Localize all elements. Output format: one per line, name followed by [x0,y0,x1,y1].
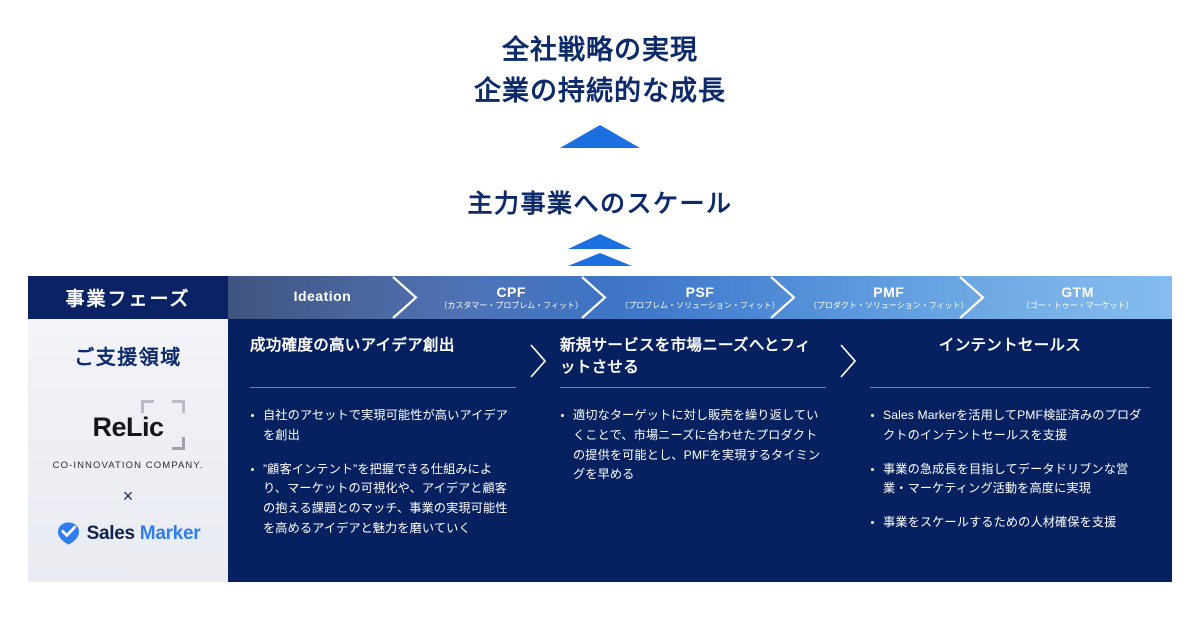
sales-marker-word-marker: Marker [140,523,201,544]
top-headline-area: 全社戦略の実現 企業の持続的な成長 主力事業へのスケール [0,0,1200,266]
column-divider [250,387,516,388]
map-pin-check-icon [56,521,81,546]
column-divider [560,387,826,388]
page-title: 全社戦略の実現 企業の持続的な成長 [0,30,1200,111]
double-chevron-up-icon [0,234,1200,266]
list-item: ”顧客インテント”を把握できる仕組みにより、マーケットの可視化や、アイデアと顧客… [250,460,516,539]
content-column-intent-sales: インテントセールス Sales Markerを活用してPMF検証済みのプロダクト… [848,335,1172,582]
phase-sub: （ゴー・トゥー・マーケット） [1022,302,1134,310]
list-item: 自社のアセットで実現可能性が高いアイデアを創出 [250,406,516,446]
phase-header-label: 事業フェーズ [28,276,228,319]
content-area: 成功確度の高いアイデア創出 自社のアセットで実現可能性が高いアイデアを創出 ”顧… [228,319,1172,582]
phase-sub: （プロダクト・ソリューション・フィット） [809,302,969,310]
relic-tagline: CO-INNOVATION COMPANY. [53,460,204,471]
chevron-up-icon-bottom [568,253,632,266]
headline-line-1: 全社戦略の実現 [0,30,1200,71]
phase-track: Ideation CPF （カスタマー・プロブレム・フィット） PSF （プロブ… [228,276,1172,319]
sales-marker-wordmark: Sales Marker [87,523,201,545]
headline-line-2: 企業の持続的な成長 [0,71,1200,112]
list-item: 適切なターゲットに対し販売を繰り返していくことで、市場ニーズに合わせたプロダクト… [560,406,826,485]
list-item: 事業の急成長を目指してデータドリブンな営業・マーケティング活動を高度に実現 [870,460,1150,500]
list-item: 事業をスケールするための人材確保を支援 [870,513,1150,533]
chevron-right-icon-2 [837,343,859,379]
relic-wordmark: ReLic [92,412,163,443]
phase-name: PSF [686,285,715,300]
phase-item-cpf[interactable]: CPF （カスタマー・プロブレム・フィット） [417,276,606,319]
phase-item-gtm[interactable]: GTM （ゴー・トゥー・マーケット） [983,276,1172,319]
relic-logo: ReLic [53,396,203,458]
sales-marker-word-sales: Sales [87,523,140,544]
support-area-sidebar: ご支援領域 ReLic CO-INNOVATION COMPANY. × Sal… [28,319,228,582]
subheading: 主力事業へのスケール [0,184,1200,220]
content-column-psf: 新規サービスを市場ニーズへとフィットさせる 適切なターゲットに対し販売を繰り返し… [538,335,848,582]
column-heading: インテントセールス [870,335,1150,381]
corner-bracket-icon-top-right [172,400,185,413]
column-divider [870,387,1150,388]
column-bullet-list: Sales Markerを活用してPMF検証済みのプロダクトのインテントセールス… [870,406,1150,533]
phase-name: Ideation [294,289,352,304]
sales-marker-logo: Sales Marker [56,521,201,546]
chevron-right-icon-1 [527,343,549,379]
phase-header-row: 事業フェーズ Ideation CPF （カスタマー・プロブレム・フィット） P… [28,276,1172,319]
phase-name: CPF [496,285,526,300]
list-item: Sales Markerを活用してPMF検証済みのプロダクトのインテントセールス… [870,406,1150,446]
column-bullet-list: 自社のアセットで実現可能性が高いアイデアを創出 ”顧客インテント”を把握できる仕… [250,406,516,539]
phase-sub: （カスタマー・プロブレム・フィット） [439,302,583,310]
cross-symbol: × [123,487,134,505]
phase-item-pmf[interactable]: PMF （プロダクト・ソリューション・フィット） [794,276,983,319]
chevron-up-icon-top [568,234,632,249]
phase-item-psf[interactable]: PSF （プロブレム・ソリューション・フィット） [606,276,795,319]
up-triangle-icon [560,125,640,148]
phase-name: PMF [873,285,904,300]
column-heading: 新規サービスを市場ニーズへとフィットさせる [560,335,826,381]
phase-item-ideation[interactable]: Ideation [228,276,417,319]
corner-bracket-icon-bottom-right [172,437,185,450]
phase-sub: （プロブレム・ソリューション・フィット） [620,302,780,310]
column-heading: 成功確度の高いアイデア創出 [250,335,516,381]
content-column-ideation: 成功確度の高いアイデア創出 自社のアセットで実現可能性が高いアイデアを創出 ”顧… [228,335,538,582]
column-bullet-list: 適切なターゲットに対し販売を繰り返していくことで、市場ニーズに合わせたプロダクト… [560,406,826,485]
main-panel: 事業フェーズ Ideation CPF （カスタマー・プロブレム・フィット） P… [28,276,1172,582]
sidebar-title: ご支援領域 [74,341,182,370]
phase-name: GTM [1061,285,1094,300]
panel-body: ご支援領域 ReLic CO-INNOVATION COMPANY. × Sal… [28,319,1172,582]
